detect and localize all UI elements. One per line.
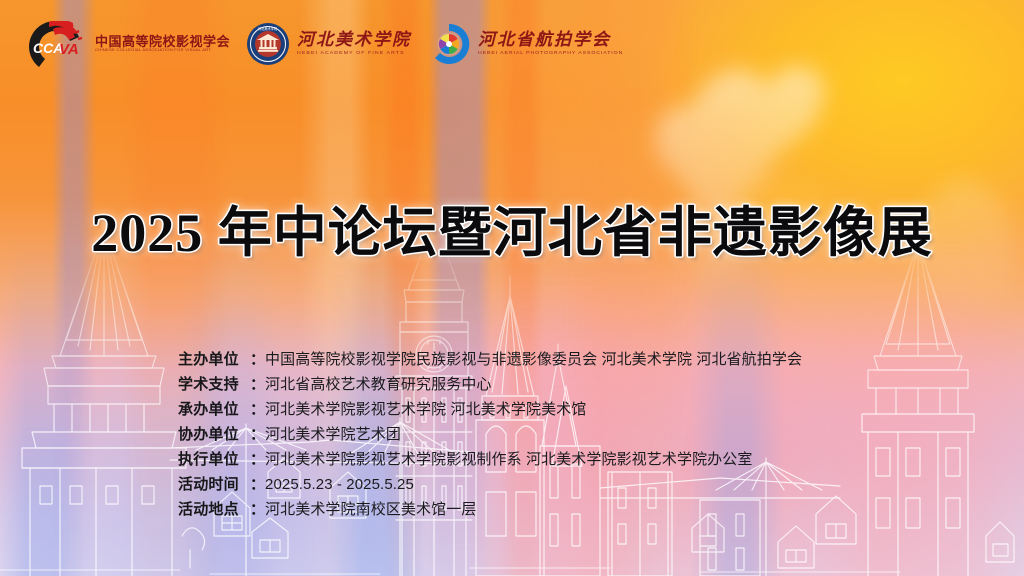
credit-colon: ： (250, 373, 265, 394)
credit-label: 承办单位 (178, 398, 250, 419)
logo-aerial-photography: 河北省航拍学会 HEBEI AERIAL PHOTOGRAPHY ASSOCIA… (427, 18, 623, 70)
logo-aerial-photography-cn-label: 河北省航拍学会 (478, 31, 623, 48)
credit-row-undertaker: 承办单位 ： 河北美术学院影视艺术学院 河北美术学院美术馆 (178, 398, 802, 423)
credit-label: 主办单位 (178, 348, 250, 369)
credit-value: 河北美术学院南校区美术馆一层 (265, 498, 476, 519)
credit-row-organizer: 主办单位 ： 中国高等院校影视学院民族影视与非遗影像委员会 河北美术学院 河北省… (178, 348, 802, 373)
credit-label: 学术支持 (178, 373, 250, 394)
credit-label: 执行单位 (178, 448, 250, 469)
poster-canvas: CCA VA 中国高等院校影视学会 CHINESE COLLEGIAL ASSO… (0, 0, 1024, 576)
credit-row-event-venue: 活动地点 ： 河北美术学院南校区美术馆一层 (178, 498, 802, 523)
credit-colon: ： (250, 498, 265, 519)
credit-label: 活动地点 (178, 498, 250, 519)
logo-hebei-academy-cn-label: 河北美术学院 (297, 31, 411, 48)
credit-colon: ： (250, 423, 265, 444)
credit-colon: ： (250, 348, 265, 369)
page-title: 2025 年中论坛暨河北省非遗影像展 (0, 199, 1024, 267)
credit-row-executor: 执行单位 ： 河北美术学院影视艺术学院影视制作系 河北美术学院影视艺术学院办公室 (178, 448, 802, 473)
credits-block: 主办单位 ： 中国高等院校影视学院民族影视与非遗影像委员会 河北美术学院 河北省… (178, 348, 802, 523)
credit-colon: ： (250, 473, 265, 494)
logo-aerial-photography-en-label: HEBEI AERIAL PHOTOGRAPHY ASSOCIATION (478, 52, 623, 57)
credit-value: 河北省高校艺术教育研究服务中心 (265, 373, 492, 394)
aerial-photography-aperture-logo-icon (427, 22, 471, 66)
svg-text:VA: VA (59, 41, 79, 58)
credit-label: 协办单位 (178, 423, 250, 444)
credit-value: 河北美术学院影视艺术学院 河北美术学院美术馆 (265, 398, 586, 419)
credit-value: 2025.5.23 - 2025.5.25 (265, 476, 414, 493)
credit-row-event-date: 活动时间 ： 2025.5.23 - 2025.5.25 (178, 473, 802, 498)
credit-row-academic-support: 学术支持 ： 河北省高校艺术教育研究服务中心 (178, 373, 802, 398)
credit-row-co-organizer: 协办单位 ： 河北美术学院艺术团 (178, 423, 802, 448)
sponsor-logo-bar: CCA VA 中国高等院校影视学会 CHINESE COLLEGIAL ASSO… (22, 18, 623, 70)
logo-ccava: CCA VA 中国高等院校影视学会 CHINESE COLLEGIAL ASSO… (22, 18, 230, 70)
logo-hebei-academy-en-label: HEBEI ACADEMY OF FINE ARTS (297, 52, 411, 57)
logo-ccava-en-label: CHINESE COLLEGIAL ASSOCIATION FOR VISUAL… (95, 49, 230, 53)
credit-label: 活动时间 (178, 473, 250, 494)
credit-colon: ： (250, 448, 265, 469)
credit-colon: ： (250, 398, 265, 419)
credit-value: 河北美术学院艺术团 (265, 423, 401, 444)
credit-value: 河北美术学院影视艺术学院影视制作系 河北美术学院影视艺术学院办公室 (265, 448, 752, 469)
logo-hebei-academy: 河北美术学院 河北美术学院 HEBEI ACADEMY OF FINE ARTS (246, 18, 411, 70)
hebei-academy-seal-logo-icon: 河北美术学院 (246, 22, 290, 66)
svg-text:河北美术学院: 河北美术学院 (258, 26, 278, 31)
credit-value: 中国高等院校影视学院民族影视与非遗影像委员会 河北美术学院 河北省航拍学会 (265, 348, 802, 369)
ccava-gear-logo-icon: CCA VA (22, 21, 88, 67)
